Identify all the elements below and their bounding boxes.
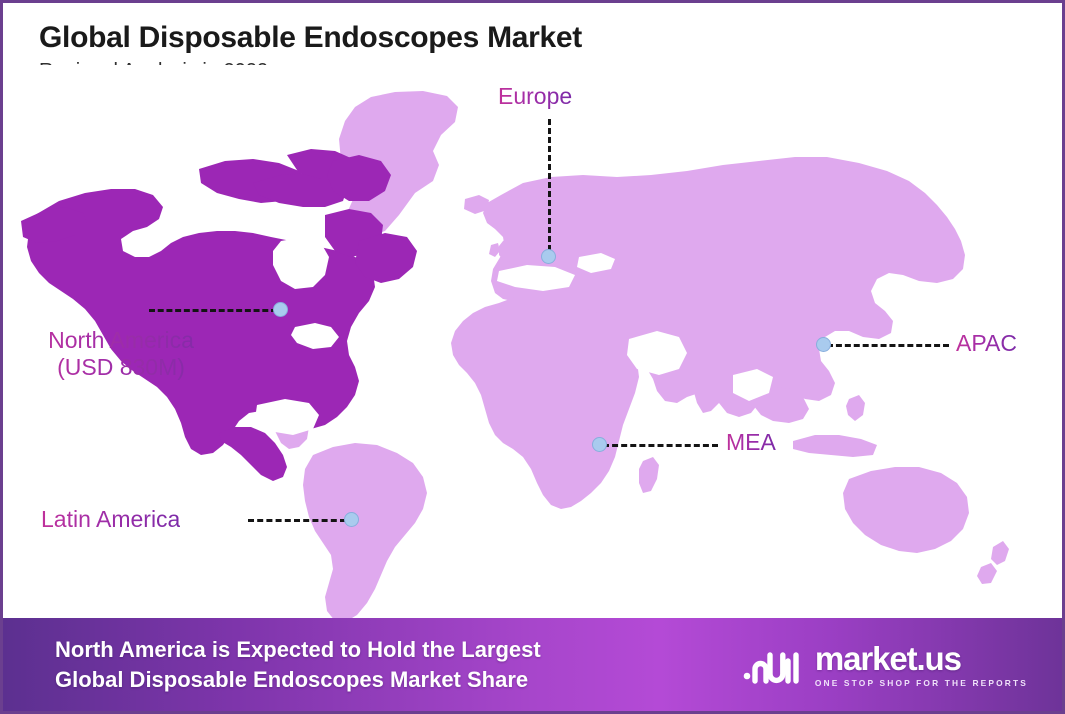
region-label-mea: MEA [726,429,776,456]
map-marker-north-america[interactable] [273,302,288,317]
region-label-north-america-name: North America [21,327,221,354]
map-marker-europe[interactable] [541,249,556,264]
map-marker-apac[interactable] [816,337,831,352]
map-marker-mea[interactable] [592,437,607,452]
region-label-europe: Europe [498,83,572,110]
brand-logo[interactable]: market.us ONE STOP SHOP FOR THE REPORTS [742,642,1034,687]
connector-line-europe [548,119,551,251]
connector-line-mea [603,444,718,447]
banner-headline-line2: Global Disposable Endoscopes Market Shar… [55,665,541,694]
market-us-logo-icon [742,643,804,687]
connector-line-apac [827,344,949,347]
region-label-latin-america: Latin America [41,506,180,533]
region-label-north-america-value: (USD 830M) [21,354,221,381]
region-label-apac: APAC [956,330,1017,357]
brand-name: market.us [815,642,1028,675]
infographic-page: Global Disposable Endoscopes Market Regi… [0,0,1065,714]
bottom-banner: North America is Expected to Hold the La… [3,618,1062,711]
region-label-north-america: North America (USD 830M) [21,327,221,381]
page-title: Global Disposable Endoscopes Market [39,21,899,55]
brand-tagline: ONE STOP SHOP FOR THE REPORTS [815,679,1028,687]
banner-headline: North America is Expected to Hold the La… [55,635,541,694]
connector-line-north-america [149,309,277,312]
brand-logo-text: market.us ONE STOP SHOP FOR THE REPORTS [815,642,1028,687]
banner-headline-line1: North America is Expected to Hold the La… [55,635,541,664]
connector-line-latin-america [248,519,346,522]
map-marker-latin-america[interactable] [344,512,359,527]
